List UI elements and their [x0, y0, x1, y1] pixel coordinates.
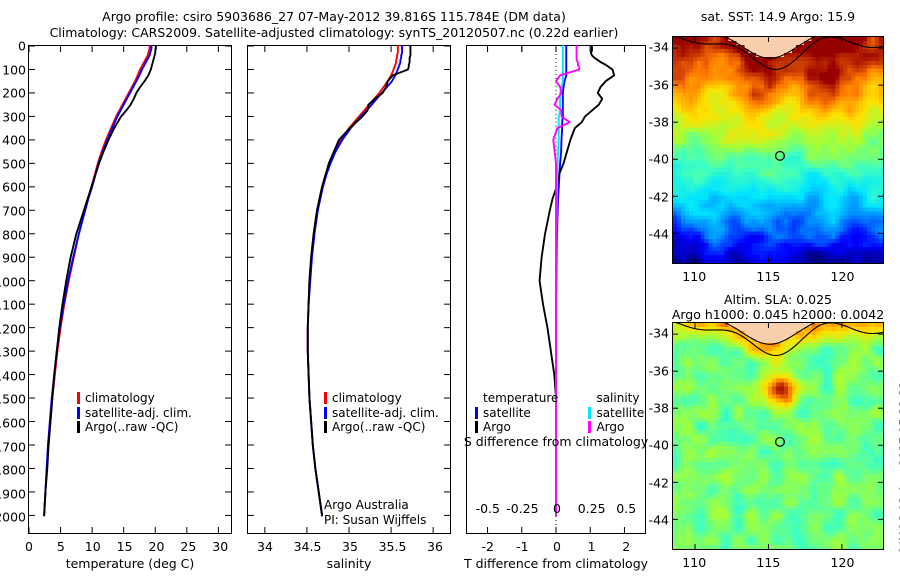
y-tick-label: 1800: [0, 463, 26, 478]
salinity-profile-panel: 3434.53535.536 climatologysatellite-adj.…: [247, 45, 451, 534]
y-tick-label: 900: [2, 251, 26, 266]
map-lat-tick-label: -34: [649, 40, 669, 55]
s-difference-tick-label: 0.5: [616, 501, 636, 516]
sla-map-title-line1: Altim. SLA: 0.025: [724, 292, 832, 307]
y-tick-label: 2000: [0, 510, 26, 525]
y-tick-label: 300: [2, 109, 26, 124]
temperature-y-axis-labels: 0100200300400500600700800900100011001200…: [0, 46, 26, 533]
map-lon-tick-label: 110: [682, 269, 706, 284]
legend-group-header: temperature: [475, 391, 558, 406]
y-tick-label: 100: [2, 62, 26, 77]
salinity-legend: climatologysatellite-adj. clim.Argo(..ra…: [324, 391, 439, 435]
y-tick-label: 1600: [0, 416, 26, 431]
t-difference-axis-title: T difference from climatology: [464, 556, 648, 571]
temperature-legend-item: satellite-adj. clim.: [77, 406, 192, 421]
x-tick-label: -1: [516, 539, 528, 554]
y-tick-label: 700: [2, 203, 26, 218]
map-lon-tick-label: 115: [756, 555, 780, 570]
x-tick-label: 20: [149, 539, 165, 554]
y-tick-label: 1000: [0, 274, 26, 289]
legend-label: satellite-adj. clim.: [332, 406, 439, 421]
map-lat-tick-label: -36: [649, 363, 669, 378]
legend-color-swatch: [324, 407, 327, 419]
y-tick-label: 400: [2, 133, 26, 148]
map-lon-tick-label: 110: [682, 555, 706, 570]
x-tick-label: 2: [622, 539, 630, 554]
x-tick-label: 35.5: [379, 539, 407, 554]
x-tick-label: -2: [482, 539, 494, 554]
s-difference-tick-label: -0.25: [506, 501, 538, 516]
x-tick-label: 34.5: [294, 539, 322, 554]
legend-color-swatch: [588, 421, 591, 433]
legend-label: Argo(..raw -QC): [85, 420, 178, 435]
s-difference-tick-label: 0: [553, 501, 561, 516]
map-lat-tick-label: -44: [649, 227, 669, 242]
figure-title-line1: Argo profile: csiro 5903686_27 07-May-20…: [0, 9, 668, 24]
legend-color-swatch: [77, 407, 80, 419]
y-tick-label: 1300: [0, 345, 26, 360]
sst-map-title: sat. SST: 14.9 Argo: 15.9: [701, 9, 855, 24]
legend-color-swatch: [324, 392, 327, 404]
temperature-profile-panel: 0100200300400500600700800900100011001200…: [28, 45, 232, 534]
temperature-legend-item: Argo(..raw -QC): [77, 420, 192, 435]
legend-label: satellite-adj. clim.: [85, 406, 192, 421]
difference-legend: temperaturesatelliteArgosalinitysatellit…: [475, 391, 644, 435]
y-tick-label: 0: [18, 39, 26, 54]
legend-label: climatology: [332, 391, 402, 406]
x-tick-label: 25: [180, 539, 196, 554]
legend-color-swatch: [77, 421, 80, 433]
sst-map-y-axis-labels: -34-36-38-40-42-44: [636, 36, 669, 264]
difference-profile-panel: -0.5-0.2500.250.5 -2-1012 temperaturesat…: [466, 45, 646, 534]
figure-title-line2: Climatology: CARS2009. Satellite-adjuste…: [0, 25, 668, 40]
argo-australia-credit: Argo Australia PI: Susan Wijffels: [324, 498, 426, 527]
x-tick-label: 0: [25, 539, 33, 554]
sst-map: [672, 36, 884, 264]
x-tick-label: 10: [85, 539, 101, 554]
salinity-plot-area: [248, 46, 450, 533]
x-tick-label: 34: [257, 539, 273, 554]
y-tick-label: 1900: [0, 486, 26, 501]
y-tick-label: 200: [2, 86, 26, 101]
map-lon-tick-label: 120: [831, 269, 855, 284]
y-tick-label: 1700: [0, 439, 26, 454]
map-lat-tick-label: -44: [649, 513, 669, 528]
credit-program: Argo Australia: [324, 498, 426, 513]
legend-color-swatch: [588, 407, 591, 419]
legend-label: Argo: [596, 420, 624, 435]
temperature-legend-item: climatology: [77, 391, 192, 406]
map-lat-tick-label: -42: [649, 189, 669, 204]
temperature-legend: climatologysatellite-adj. clim.Argo(..ra…: [77, 391, 192, 435]
x-tick-label: 36: [427, 539, 443, 554]
x-tick-label: 30: [212, 539, 228, 554]
y-tick-label: 1100: [0, 298, 26, 313]
difference-legend-group: temperaturesatelliteArgo: [475, 391, 558, 435]
map-lat-tick-label: -40: [649, 438, 669, 453]
x-tick-label: 0: [553, 539, 561, 554]
y-tick-label: 500: [2, 156, 26, 171]
y-tick-label: 600: [2, 180, 26, 195]
y-tick-label: 1400: [0, 368, 26, 383]
salinity-legend-item: Argo(..raw -QC): [324, 420, 439, 435]
x-tick-label: 35: [342, 539, 358, 554]
difference-legend-item: satellite: [475, 406, 558, 421]
x-tick-label: 1: [588, 539, 596, 554]
temperature-axis-title: temperature (deg C): [66, 556, 195, 571]
legend-color-swatch: [475, 421, 478, 433]
sla-map-title-line2: Argo h1000: 0.045 h2000: 0.0042: [672, 307, 884, 322]
s-difference-tick-label: 0.25: [578, 501, 606, 516]
salinity-legend-item: satellite-adj. clim.: [324, 406, 439, 421]
legend-label: satellite: [483, 406, 531, 421]
legend-label: Argo(..raw -QC): [332, 420, 425, 435]
legend-color-swatch: [475, 407, 478, 419]
map-lon-tick-label: 115: [756, 269, 780, 284]
legend-label: climatology: [85, 391, 155, 406]
sla-map-canvas: [673, 323, 883, 549]
y-tick-label: 800: [2, 227, 26, 242]
map-lat-tick-label: -34: [649, 326, 669, 341]
difference-legend-item: Argo: [475, 420, 558, 435]
x-tick-label: 5: [57, 539, 65, 554]
sst-map-canvas: [673, 37, 883, 263]
y-tick-label: 1200: [0, 321, 26, 336]
difference-plot-area: [467, 46, 645, 533]
map-lat-tick-label: -38: [649, 114, 669, 129]
legend-color-swatch: [77, 392, 80, 404]
map-lon-tick-label: 120: [831, 555, 855, 570]
legend-label: Argo: [483, 420, 511, 435]
salinity-legend-item: climatology: [324, 391, 439, 406]
map-lat-tick-label: -36: [649, 77, 669, 92]
legend-color-swatch: [324, 421, 327, 433]
sla-map-y-axis-labels: -34-36-38-40-42-44: [636, 322, 669, 550]
x-tick-label: 15: [117, 539, 133, 554]
map-lat-tick-label: -38: [649, 400, 669, 415]
argo-profile-figure: Argo profile: csiro 5903686_27 07-May-20…: [0, 0, 900, 580]
s-difference-tick-label: -0.5: [476, 501, 500, 516]
map-lat-tick-label: -40: [649, 152, 669, 167]
difference-legend-groups: temperaturesatelliteArgosalinitysatellit…: [475, 391, 644, 435]
map-lat-tick-label: -42: [649, 475, 669, 490]
y-tick-label: 1500: [0, 392, 26, 407]
credit-pi: PI: Susan Wijffels: [324, 513, 426, 528]
salinity-axis-title: salinity: [327, 556, 372, 571]
temperature-plot-area: [29, 46, 231, 533]
s-difference-axis-title: S difference from climatology: [464, 434, 648, 449]
sla-map: [672, 322, 884, 550]
